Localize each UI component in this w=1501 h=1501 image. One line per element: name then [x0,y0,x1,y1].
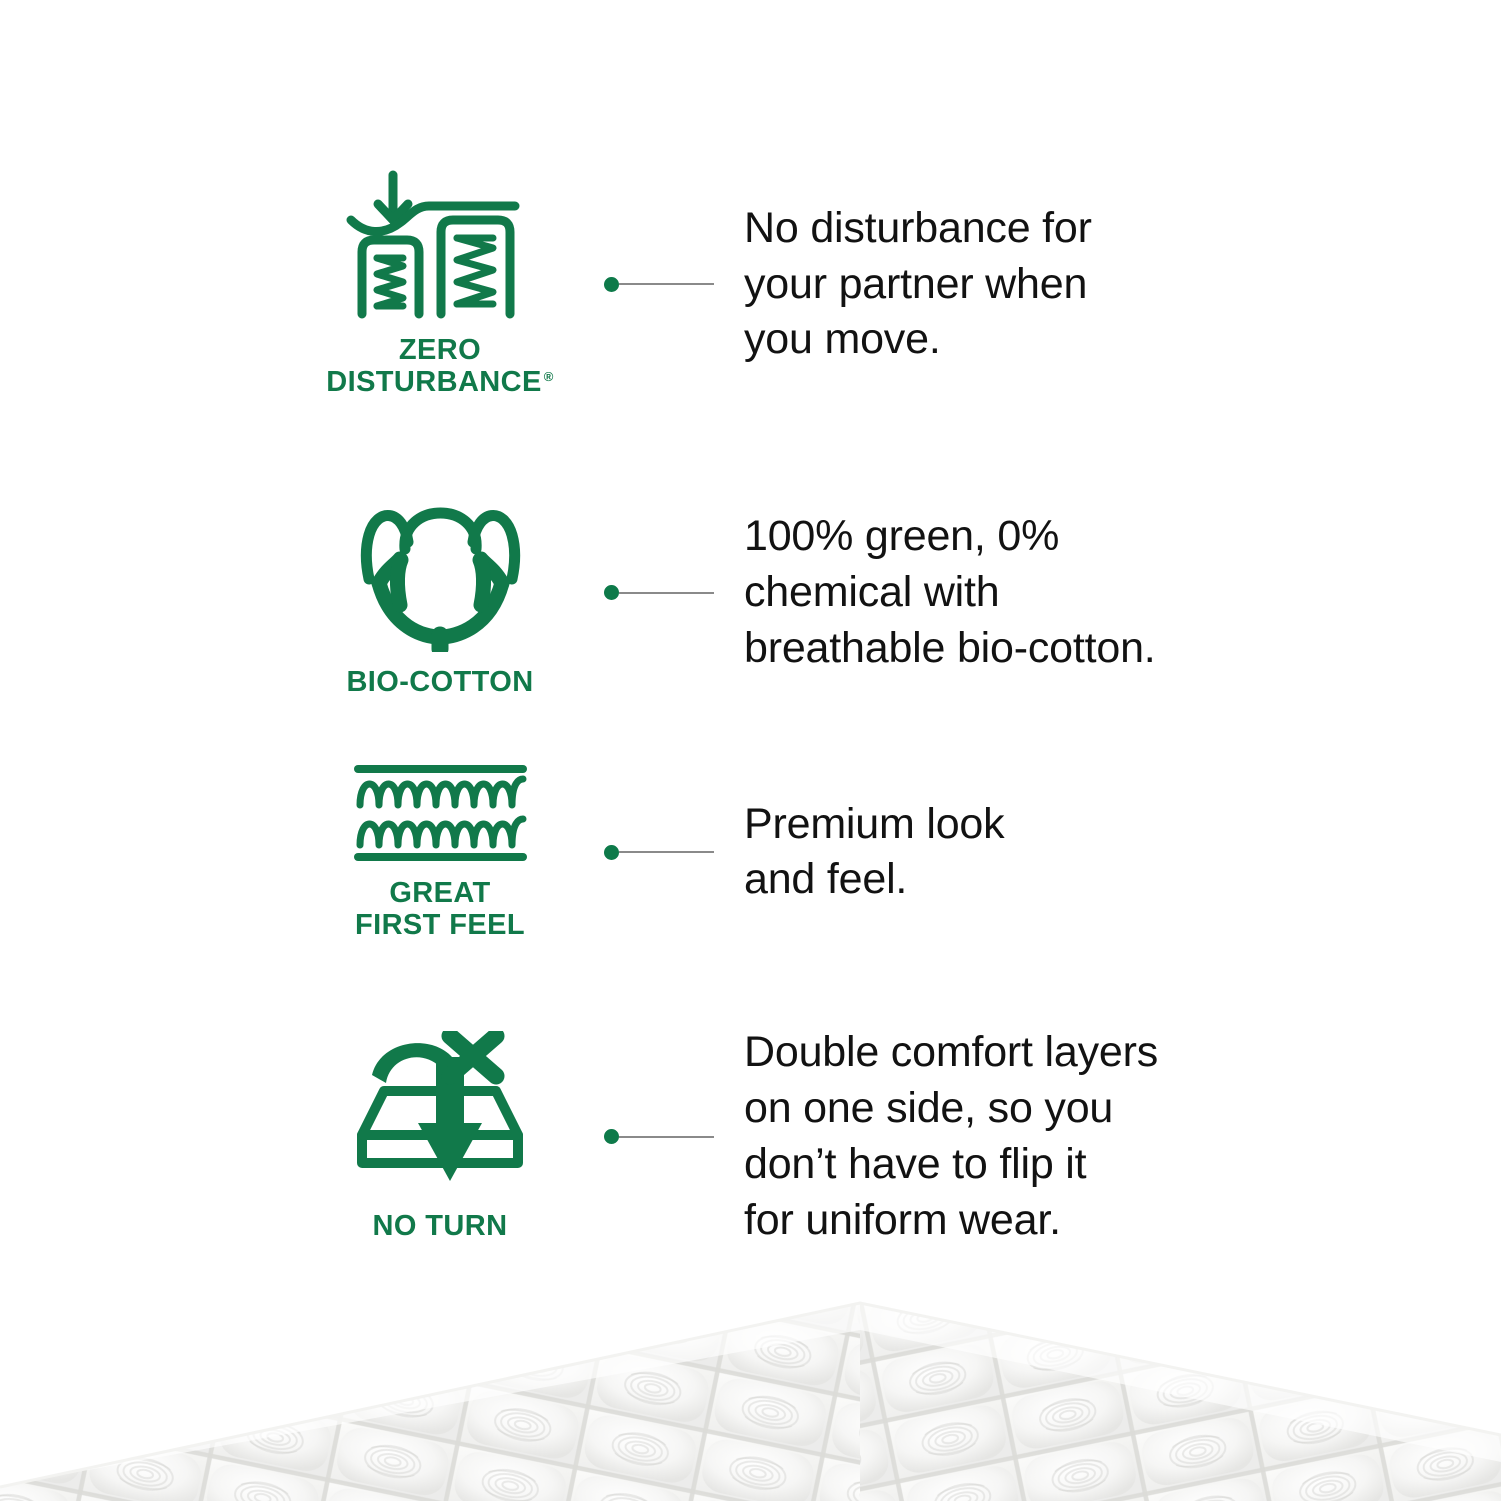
connector-line [619,851,714,853]
mattress-crest-edge [0,1303,1501,1487]
bio-cotton-icon [353,487,528,652]
connector-bio-cotton [604,585,714,600]
connector-dot-icon [604,845,619,860]
feature-label-text: BIO-COTTON [346,666,533,698]
connector-dot-icon [604,585,619,600]
feature-icon-block-bio-cotton: BIO-COTTON [290,487,590,698]
feature-row-no-turn: NO TURN Double comfort layers on one sid… [0,1025,1501,1249]
mattress-illustration [0,1286,1501,1501]
feature-icon-block-great-first-feel: GREAT FIRST FEEL [290,763,590,942]
quilted-mattress-corner-image [0,1286,1501,1501]
connector-dot-icon [604,1129,619,1144]
feature-label-no-turn: NO TURN [373,1210,508,1242]
feature-label-text: ZERO DISTURBANCE [326,334,541,398]
feature-infographic-page: ZERO DISTURBANCE® No disturbance for you… [0,0,1501,1501]
x-mark-icon [450,1036,496,1076]
spring-coil-left [377,258,403,306]
connector-line [619,283,714,285]
feature-row-zero-disturbance: ZERO DISTURBANCE® No disturbance for you… [0,170,1501,399]
feature-label-great-first-feel: GREAT FIRST FEEL [355,877,525,942]
connector-line [619,1136,714,1138]
feature-description-bio-cotton: 100% green, 0% chemical with breathable … [744,509,1156,677]
feature-icon-block-no-turn: NO TURN [290,1031,590,1242]
no-turn-icon [340,1031,540,1196]
zero-disturbance-icon [345,170,535,320]
feature-icon-block-zero-disturbance: ZERO DISTURBANCE® [290,170,590,399]
feature-description-zero-disturbance: No disturbance for your partner when you… [744,201,1092,369]
connector-zero-disturbance [604,277,714,292]
feature-label-bio-cotton: BIO-COTTON [346,666,533,698]
feature-row-bio-cotton: BIO-COTTON 100% green, 0% chemical with … [0,487,1501,698]
connector-dot-icon [604,277,619,292]
feature-description-great-first-feel: Premium look and feel. [744,797,1004,909]
spring-coil-right [457,238,493,304]
feature-row-great-first-feel: GREAT FIRST FEEL Premium look and feel. [0,763,1501,942]
connector-no-turn [604,1129,714,1144]
registered-trademark-icon: ® [544,369,554,384]
connector-great-first-feel [604,845,714,860]
feature-label-text: NO TURN [373,1210,508,1242]
great-first-feel-icon [353,763,528,863]
feature-label-text: GREAT FIRST FEEL [355,877,525,941]
feature-label-zero-disturbance: ZERO DISTURBANCE® [326,334,553,399]
feature-description-no-turn: Double comfort layers on one side, so yo… [744,1025,1158,1249]
connector-line [619,592,714,594]
